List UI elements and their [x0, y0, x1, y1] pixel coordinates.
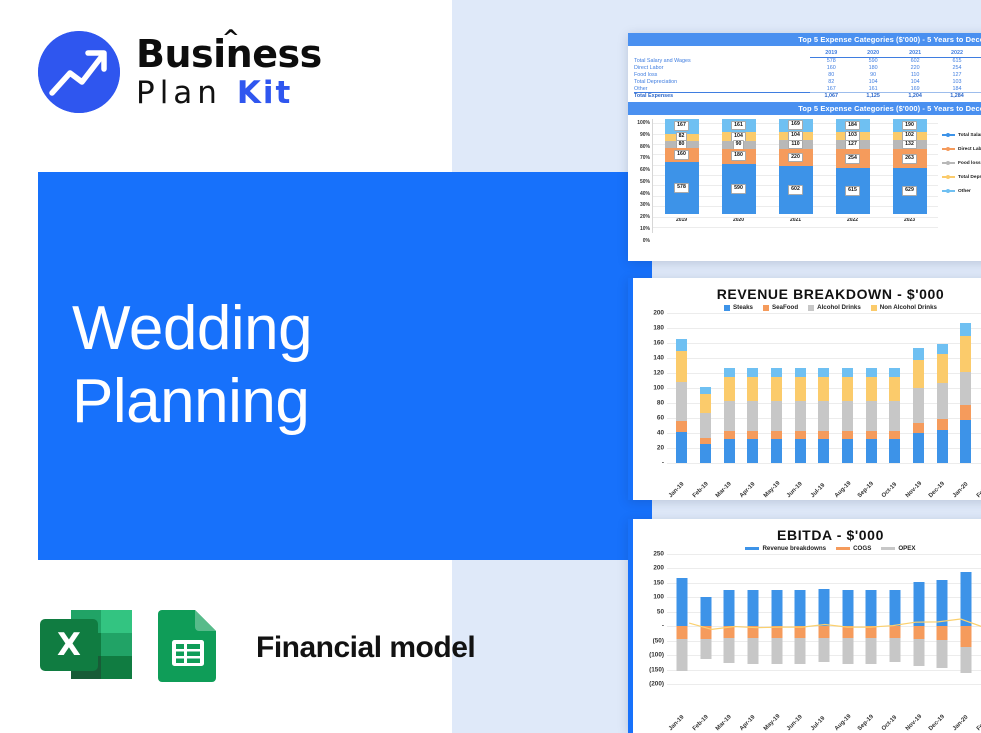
bar-value-label: 578 [674, 183, 689, 193]
bar-segment [913, 388, 924, 423]
bar-segment [866, 590, 877, 627]
bar-segment [842, 638, 853, 663]
bar-segment [960, 420, 971, 464]
legend-label: Other [958, 189, 971, 194]
bar-segment [960, 323, 971, 336]
bar-segment [913, 348, 924, 359]
legend-swatch [942, 148, 955, 149]
revenue-breakdown-card[interactable]: REVENUE BREAKDOWN - $'000 SteaksSeaFoodA… [628, 278, 981, 500]
legend-item: Non Alcohol Drinks [871, 304, 937, 311]
bar-segment [795, 439, 806, 463]
total-cell: 1,204 [894, 92, 936, 99]
legend-item: Alcohol Drinks [808, 304, 861, 311]
col-header-blank [634, 50, 810, 58]
expense-stacked-chart: 100%90%80%70%60%50%40%30%20%10%0% 167828… [628, 115, 981, 233]
stacked-bar: 184103127254615 [836, 119, 870, 214]
ebitda-chart-title: EBITDA - $'000 [633, 519, 981, 545]
stacked-bar [907, 313, 931, 463]
x-tick: Feb-19 [692, 711, 713, 732]
ebitda-chart-yaxis: 25020015010050-(50)(100)(150)(200) [637, 554, 667, 684]
y-tick: 200 [653, 565, 664, 572]
y-tick: (50) [653, 637, 664, 644]
expense-chart-yaxis: 100%90%80%70%60%50%40%30%20%10%0% [630, 119, 652, 233]
bar-segment [700, 394, 711, 413]
microsoft-excel-icon: X [38, 608, 134, 687]
bar-segment [818, 589, 829, 627]
x-tick: Sep-19 [857, 478, 878, 499]
y-tick: 50% [640, 179, 650, 185]
bar-segment [771, 590, 782, 627]
y-tick: (100) [649, 652, 664, 659]
row-label: Food loss [634, 72, 810, 79]
legend-label: Total Salary and Wages [958, 133, 981, 138]
bar-segment [913, 626, 924, 639]
bar-segment [724, 626, 735, 638]
x-tick: Oct-19 [881, 478, 902, 499]
bar-segment [700, 626, 711, 639]
bar-segment [724, 590, 735, 627]
svg-text:X: X [57, 627, 81, 663]
table-cell: 161 [852, 85, 894, 92]
stacked-bar [670, 554, 694, 684]
table-row: Total Depreciation82104104103102 [634, 78, 981, 85]
stacked-bar: 1678280160578 [665, 119, 699, 214]
ebitda-chart-plot-area: 25020015010050-(50)(100)(150)(200) [633, 554, 981, 684]
bar-segment [960, 647, 971, 673]
bar-segment [747, 638, 758, 664]
bar-value-label: 180 [731, 151, 746, 161]
revenue-chart-legend: SteaksSeaFoodAlcohol DrinksNon Alcohol D… [633, 304, 981, 311]
bar-segment [889, 368, 900, 377]
row-label: Total Salary and Wages [634, 58, 810, 65]
legend-item: Other [942, 189, 981, 194]
legend-swatch [942, 134, 955, 135]
bar-segment [889, 626, 900, 638]
x-tick: Aug-19 [834, 478, 855, 499]
stacked-bar [717, 554, 741, 684]
bar-segment: 103 [836, 132, 870, 140]
bar-segment [818, 431, 829, 439]
bar-segment [960, 405, 971, 420]
bar-segment [795, 368, 806, 377]
legend-swatch [745, 547, 759, 550]
bar-segment: 160 [665, 148, 699, 162]
bar-segment [937, 640, 948, 668]
circumflex-accent-icon: ^ [222, 28, 239, 49]
bar-segment [724, 368, 735, 377]
revenue-chart-xaxis: Jan-19Feb-19Mar-19Apr-19May-19Jun-19Jul-… [667, 494, 981, 500]
table-cell: 220 [894, 65, 936, 72]
y-tick: 40 [657, 430, 664, 437]
y-tick: 180 [653, 325, 664, 332]
bar-segment [724, 431, 735, 439]
bar-segment [937, 344, 948, 355]
legend-item: SeaFood [763, 304, 798, 311]
bar-segment [700, 387, 711, 395]
bar-segment [937, 419, 948, 430]
stacked-bar [836, 554, 860, 684]
y-tick: (200) [649, 681, 664, 688]
bar-segment [818, 638, 829, 662]
bar-segment [866, 377, 877, 401]
stacked-bar [765, 554, 789, 684]
bar-segment [747, 431, 758, 439]
y-tick: 100 [653, 385, 664, 392]
row-label: Total Depreciation [634, 78, 810, 85]
y-tick: 160 [653, 340, 664, 347]
bar-segment [795, 377, 806, 401]
bar-value-label: 190 [902, 121, 917, 131]
table-cell: 104 [852, 78, 894, 85]
bar-segment [676, 421, 687, 432]
x-tick: Aug-19 [834, 711, 855, 732]
y-tick: 100% [637, 120, 650, 126]
y-tick: 100 [653, 594, 664, 601]
revenue-chart-plot [667, 313, 981, 463]
bar-segment [937, 626, 948, 639]
y-tick: 0% [643, 238, 650, 244]
table-cell: 80 [810, 72, 852, 79]
legend-label: Revenue breakdowns [762, 545, 826, 552]
y-tick: 140 [653, 355, 664, 362]
stacked-bar [883, 313, 907, 463]
bar-value-label: 220 [788, 153, 803, 163]
ebitda-chart-legend: Revenue breakdownsCOGSOPEX [633, 545, 981, 552]
y-tick: 50 [657, 608, 664, 615]
bar-segment [818, 626, 829, 638]
brand-logo: Business ^ Plan Kit [38, 31, 322, 113]
expense-chart-banner: Top 5 Expense Categories ($'000) - 5 Yea… [628, 102, 981, 115]
y-tick: 20% [640, 214, 650, 220]
bar-value-label: 160 [674, 150, 689, 160]
stacked-bar [954, 554, 978, 684]
stacked-bar: 16110490180590 [722, 119, 756, 214]
y-tick: 60 [657, 415, 664, 422]
bar-segment [866, 431, 877, 439]
table-cell: 602 [894, 58, 936, 65]
table-cell: 615 [936, 58, 978, 65]
bar-segment [866, 626, 877, 638]
slide-canvas: Business ^ Plan Kit Wedding Planning X [0, 0, 981, 733]
y-tick: (150) [649, 666, 664, 673]
x-tick: Jan-19 [668, 478, 689, 499]
bar-value-label: 602 [788, 185, 803, 195]
bar-segment: 254 [836, 149, 870, 168]
row-label: Direct Labor [634, 65, 810, 72]
revenue-chart-plot-area: 20018016014012010080604020- [633, 313, 981, 463]
bar-segment [937, 430, 948, 463]
bar-value-label: 254 [845, 154, 860, 164]
y-tick: - [662, 623, 664, 630]
bar-segment: 220 [779, 149, 813, 166]
table-cell: 82 [810, 78, 852, 85]
bar-segment [889, 638, 900, 662]
x-tick: Feb-19 [692, 478, 713, 499]
bar-segment [960, 372, 971, 405]
stacked-bar: 190102132263629 [893, 119, 927, 214]
stacked-bar [694, 554, 718, 684]
bar-segment [747, 401, 758, 431]
bar-segment [866, 368, 877, 377]
col-header-2019: 2019 [810, 50, 852, 58]
legend-swatch [871, 305, 877, 311]
bar-segment [937, 354, 948, 383]
bar-segment [724, 439, 735, 463]
bar-segment [747, 590, 758, 627]
table-cell: 103 [936, 78, 978, 85]
bar-segment [700, 438, 711, 445]
bar-segment [747, 439, 758, 463]
x-tick: Jan-19 [668, 711, 689, 732]
x-tick: Apr-19 [739, 478, 760, 499]
table-row: Total Salary and Wages578590602615629 [634, 58, 981, 65]
table-cell: 167 [810, 85, 852, 92]
legend-swatch [763, 305, 769, 311]
legend-label: Food loss [958, 161, 981, 166]
bar-segment [913, 639, 924, 666]
revenue-chart-title: REVENUE BREAKDOWN - $'000 [633, 278, 981, 304]
bar-segment: 180 [722, 149, 756, 164]
x-tick: Mar-19 [715, 711, 736, 732]
bar-segment: 161 [722, 119, 756, 133]
brand-name-line2: Plan Kit [136, 78, 322, 109]
stacked-bar [883, 554, 907, 684]
bar-value-label: 127 [845, 140, 860, 150]
legend-item: COGS [836, 545, 871, 552]
expense-chart-plot: 1678280160578201916110490180590202016910… [652, 119, 938, 233]
y-tick: 20 [657, 445, 664, 452]
table-cell: 254 [936, 65, 978, 72]
bar-segment [842, 590, 853, 627]
bar-segment [771, 377, 782, 401]
bar-segment [842, 439, 853, 463]
bar-segment [913, 423, 924, 434]
x-tick: Sep-19 [857, 711, 878, 732]
bar-segment [747, 377, 758, 401]
bar-segment: 629 [893, 168, 927, 213]
table-cell: 160 [810, 65, 852, 72]
legend-swatch [942, 176, 955, 177]
legend-item: Revenue breakdowns [745, 545, 826, 552]
x-tick: Jul-19 [810, 478, 831, 499]
expense-categories-card[interactable]: Top 5 Expense Categories ($'000) - 5 Yea… [628, 33, 981, 261]
bar-segment [747, 626, 758, 638]
bar-segment: 263 [893, 149, 927, 168]
ebitda-chart-xaxis: Jan-19Feb-19Mar-19Apr-19May-19Jun-19Jul-… [667, 727, 981, 733]
x-tick: May-19 [763, 478, 784, 499]
legend-item: Total Salary and Wages [942, 133, 981, 138]
legend-swatch [808, 305, 814, 311]
bar-segment [795, 638, 806, 663]
bar-segment [724, 377, 735, 401]
y-tick: 200 [653, 310, 664, 317]
bar-segment: 127 [836, 140, 870, 149]
table-row: Food loss8090110127132 [634, 72, 981, 79]
y-tick: 10% [640, 226, 650, 232]
bar-segment [960, 572, 971, 626]
x-tick: Jun-19 [786, 478, 807, 499]
y-tick: 40% [640, 191, 650, 197]
bar-segment [842, 368, 853, 377]
stacked-bar [788, 313, 812, 463]
y-tick: 30% [640, 202, 650, 208]
bar-segment [818, 377, 829, 401]
bar-segment [724, 401, 735, 431]
x-tick: Dec-19 [928, 478, 949, 499]
bar-segment: 615 [836, 168, 870, 214]
stacked-bar [836, 313, 860, 463]
bar-segment: 132 [893, 140, 927, 150]
x-tick: Feb-20 [976, 711, 981, 732]
legend-label: Direct Labor [958, 147, 981, 152]
bar-value-label: 615 [845, 186, 860, 196]
bar-segment [842, 377, 853, 401]
row-label: Other [634, 85, 810, 92]
legend-item: Direct Labor [942, 147, 981, 152]
bar-segment: 90 [722, 141, 756, 149]
x-tick: Dec-19 [928, 711, 949, 732]
x-tick: Jan-20 [952, 711, 973, 732]
table-header-row: 2019 2020 2021 2022 2023 [634, 50, 981, 58]
bar-segment: 110 [779, 140, 813, 149]
bar-segment [889, 401, 900, 431]
legend-swatch [724, 305, 730, 311]
bar-segment [818, 368, 829, 377]
stacked-bar [812, 313, 836, 463]
col-header-2022: 2022 [936, 50, 978, 58]
bar-segment [866, 401, 877, 431]
bar-segment [842, 626, 853, 638]
bar-segment: 602 [779, 166, 813, 213]
x-tick: Oct-19 [881, 711, 902, 732]
stacked-bar [694, 313, 718, 463]
bar-segment [960, 336, 971, 372]
bar-segment: 578 [665, 162, 699, 213]
bar-segment [700, 413, 711, 438]
table-row: Direct Labor160180220254263 [634, 65, 981, 72]
bar-segment: 104 [779, 132, 813, 140]
table-cell: 180 [852, 65, 894, 72]
bar-segment [676, 432, 687, 464]
table-cell: 184 [936, 85, 978, 92]
expense-chart-legend: Total Salary and WagesDirect LaborFood l… [938, 119, 981, 233]
bar-segment [795, 626, 806, 638]
bar-value-label: 167 [674, 121, 689, 131]
y-tick: 250 [653, 551, 664, 558]
legend-item: Steaks [724, 304, 753, 311]
col-header-2021: 2021 [894, 50, 936, 58]
legend-label: Total Depreciation [958, 175, 981, 180]
brand-plan-text: Plan [136, 75, 222, 111]
bar-segment [771, 431, 782, 439]
stacked-bar [717, 313, 741, 463]
page-title: Wedding Planning [72, 292, 312, 438]
bar-segment [842, 401, 853, 431]
page-title-line2: Planning [72, 365, 312, 438]
legend-swatch [942, 162, 955, 163]
legend-item: OPEX [881, 545, 915, 552]
bar-segment [771, 638, 782, 663]
x-tick: Nov-19 [905, 478, 926, 499]
bar-segment [676, 382, 687, 421]
bar-segment: 102 [893, 132, 927, 139]
y-tick: 80% [640, 144, 650, 150]
bar-segment [700, 444, 711, 463]
stacked-bar [930, 554, 954, 684]
bar-value-label: 169 [788, 120, 803, 130]
bar-value-label: 184 [845, 121, 860, 131]
bar-segment [889, 439, 900, 463]
bar-segment [960, 626, 971, 647]
bar-value-label: 161 [731, 121, 746, 131]
stacked-bar [930, 313, 954, 463]
bar-segment [937, 580, 948, 626]
bar-segment [889, 431, 900, 439]
stacked-bar [812, 554, 836, 684]
y-tick: 150 [653, 579, 664, 586]
revenue-chart-yaxis: 20018016014012010080604020- [637, 313, 667, 463]
bar-segment [771, 439, 782, 463]
format-label: Financial model [256, 631, 475, 665]
bar-segment: 80 [665, 141, 699, 148]
bar-segment [913, 360, 924, 389]
bar-segment [747, 368, 758, 377]
table-cell: 169 [894, 85, 936, 92]
legend-label: SeaFood [772, 304, 798, 311]
bar-segment [842, 431, 853, 439]
bar-segment [771, 401, 782, 431]
ebitda-chart-plot [667, 554, 981, 684]
y-tick: 90% [640, 132, 650, 138]
total-label: Total Expenses [634, 92, 810, 99]
y-tick: 120 [653, 370, 664, 377]
stacked-bar [670, 313, 694, 463]
stacked-bar [907, 554, 931, 684]
x-tick: May-19 [763, 711, 784, 732]
x-tick: Jun-19 [786, 711, 807, 732]
x-tick: Mar-19 [715, 478, 736, 499]
bar-segment [889, 590, 900, 627]
bar-segment [724, 638, 735, 663]
bar-segment [866, 638, 877, 663]
table-cell: 110 [894, 72, 936, 79]
format-badges: X Financial model [38, 608, 475, 687]
x-tick: Nov-19 [905, 711, 926, 732]
x-tick: Jul-19 [810, 711, 831, 732]
ebitda-card[interactable]: EBITDA - $'000 Revenue breakdownsCOGSOPE… [628, 519, 981, 733]
x-tick: Feb-20 [976, 478, 981, 499]
y-tick: 70% [640, 155, 650, 161]
legend-label: Steaks [733, 304, 753, 311]
table-total-row: Total Expenses1,0671,1251,2041,2841,316 [634, 92, 981, 99]
stacked-bar [741, 313, 765, 463]
legend-label: Non Alcohol Drinks [880, 304, 937, 311]
bar-segment [795, 401, 806, 431]
legend-swatch [942, 190, 955, 191]
bar-segment [676, 351, 687, 382]
legend-item: Food loss [942, 161, 981, 166]
stacked-bar [859, 313, 883, 463]
y-tick: - [662, 460, 664, 467]
bar-segment [676, 639, 687, 671]
expense-table: 2019 2020 2021 2022 2023 Total Salary an… [628, 46, 981, 102]
bar-segment [866, 439, 877, 463]
growth-arrow-icon [38, 31, 120, 113]
stacked-bar: 169104110220602 [779, 119, 813, 214]
y-tick: 80 [657, 400, 664, 407]
bar-segment [795, 590, 806, 627]
table-cell: 90 [852, 72, 894, 79]
